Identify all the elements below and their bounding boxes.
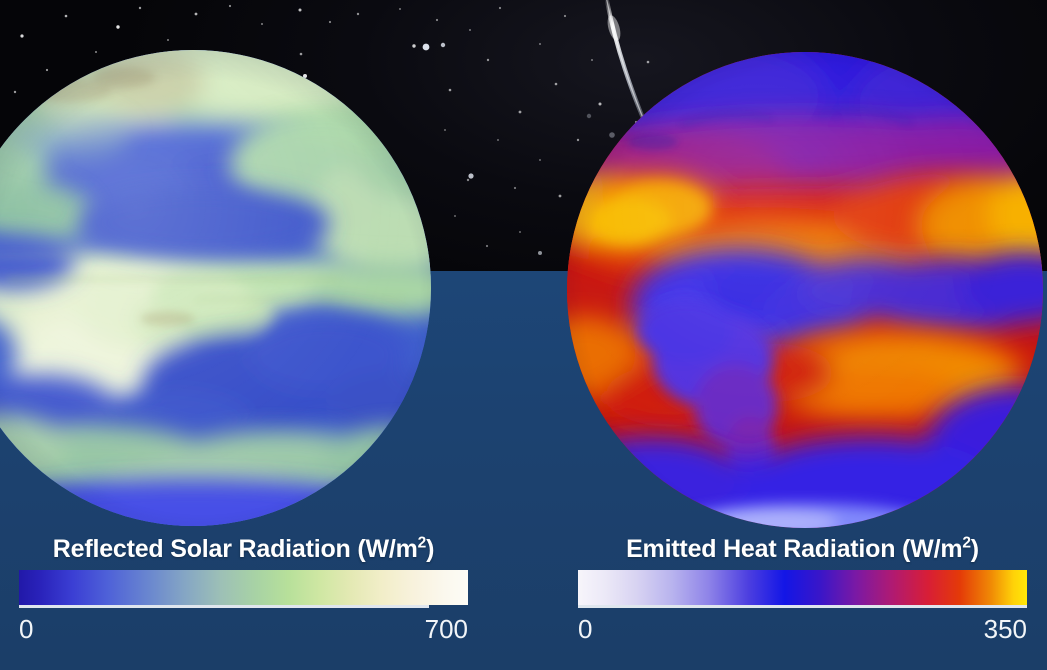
legend-title-superscript-emitted: 2 — [962, 535, 970, 552]
reflected-solar-colorbar-wrap — [19, 570, 468, 605]
reflected-solar-colorbar — [19, 570, 468, 605]
reflected-solar-tick-min: 0 — [19, 614, 33, 644]
earth-radiation-budget-figure: Reflected Solar Radiation (W/m2) 0 700 E… — [0, 0, 1047, 670]
emitted-heat-tick-max: 350 — [984, 614, 1027, 644]
legend-title-superscript-reflected: 2 — [418, 535, 426, 552]
legend-title-tail-emitted: ) — [971, 535, 979, 563]
emitted-heat-colorbar — [578, 570, 1027, 605]
legend-title-text-reflected: Reflected Solar Radiation (W/m — [53, 535, 418, 563]
reflected-solar-radiation-texture — [0, 50, 431, 526]
emitted-heat-colorbar-ticks: 0 350 — [578, 614, 1027, 648]
emitted-heat-radiation-legend-title: Emitted Heat Radiation (W/m2) — [578, 534, 1027, 564]
emitted-heat-colorbar-underline — [578, 605, 1027, 608]
emitted-heat-radiation-legend: Emitted Heat Radiation (W/m2) 0 350 — [578, 534, 1027, 648]
legend-title-text-emitted: Emitted Heat Radiation (W/m — [626, 535, 962, 563]
reflected-solar-colorbar-ticks: 0 700 — [19, 614, 468, 648]
reflected-solar-colorbar-underline — [19, 605, 429, 608]
reflected-solar-radiation-globe — [0, 50, 431, 526]
emitted-heat-colorbar-wrap — [578, 570, 1027, 605]
reflected-solar-tick-max: 700 — [425, 614, 468, 644]
emitted-heat-radiation-texture — [567, 52, 1043, 528]
legend-title-tail-reflected: ) — [426, 535, 434, 563]
reflected-solar-radiation-legend: Reflected Solar Radiation (W/m2) 0 700 — [19, 534, 468, 648]
emitted-heat-radiation-globe — [567, 52, 1043, 528]
reflected-solar-radiation-legend-title: Reflected Solar Radiation (W/m2) — [19, 534, 468, 564]
emitted-heat-tick-min: 0 — [578, 614, 592, 644]
